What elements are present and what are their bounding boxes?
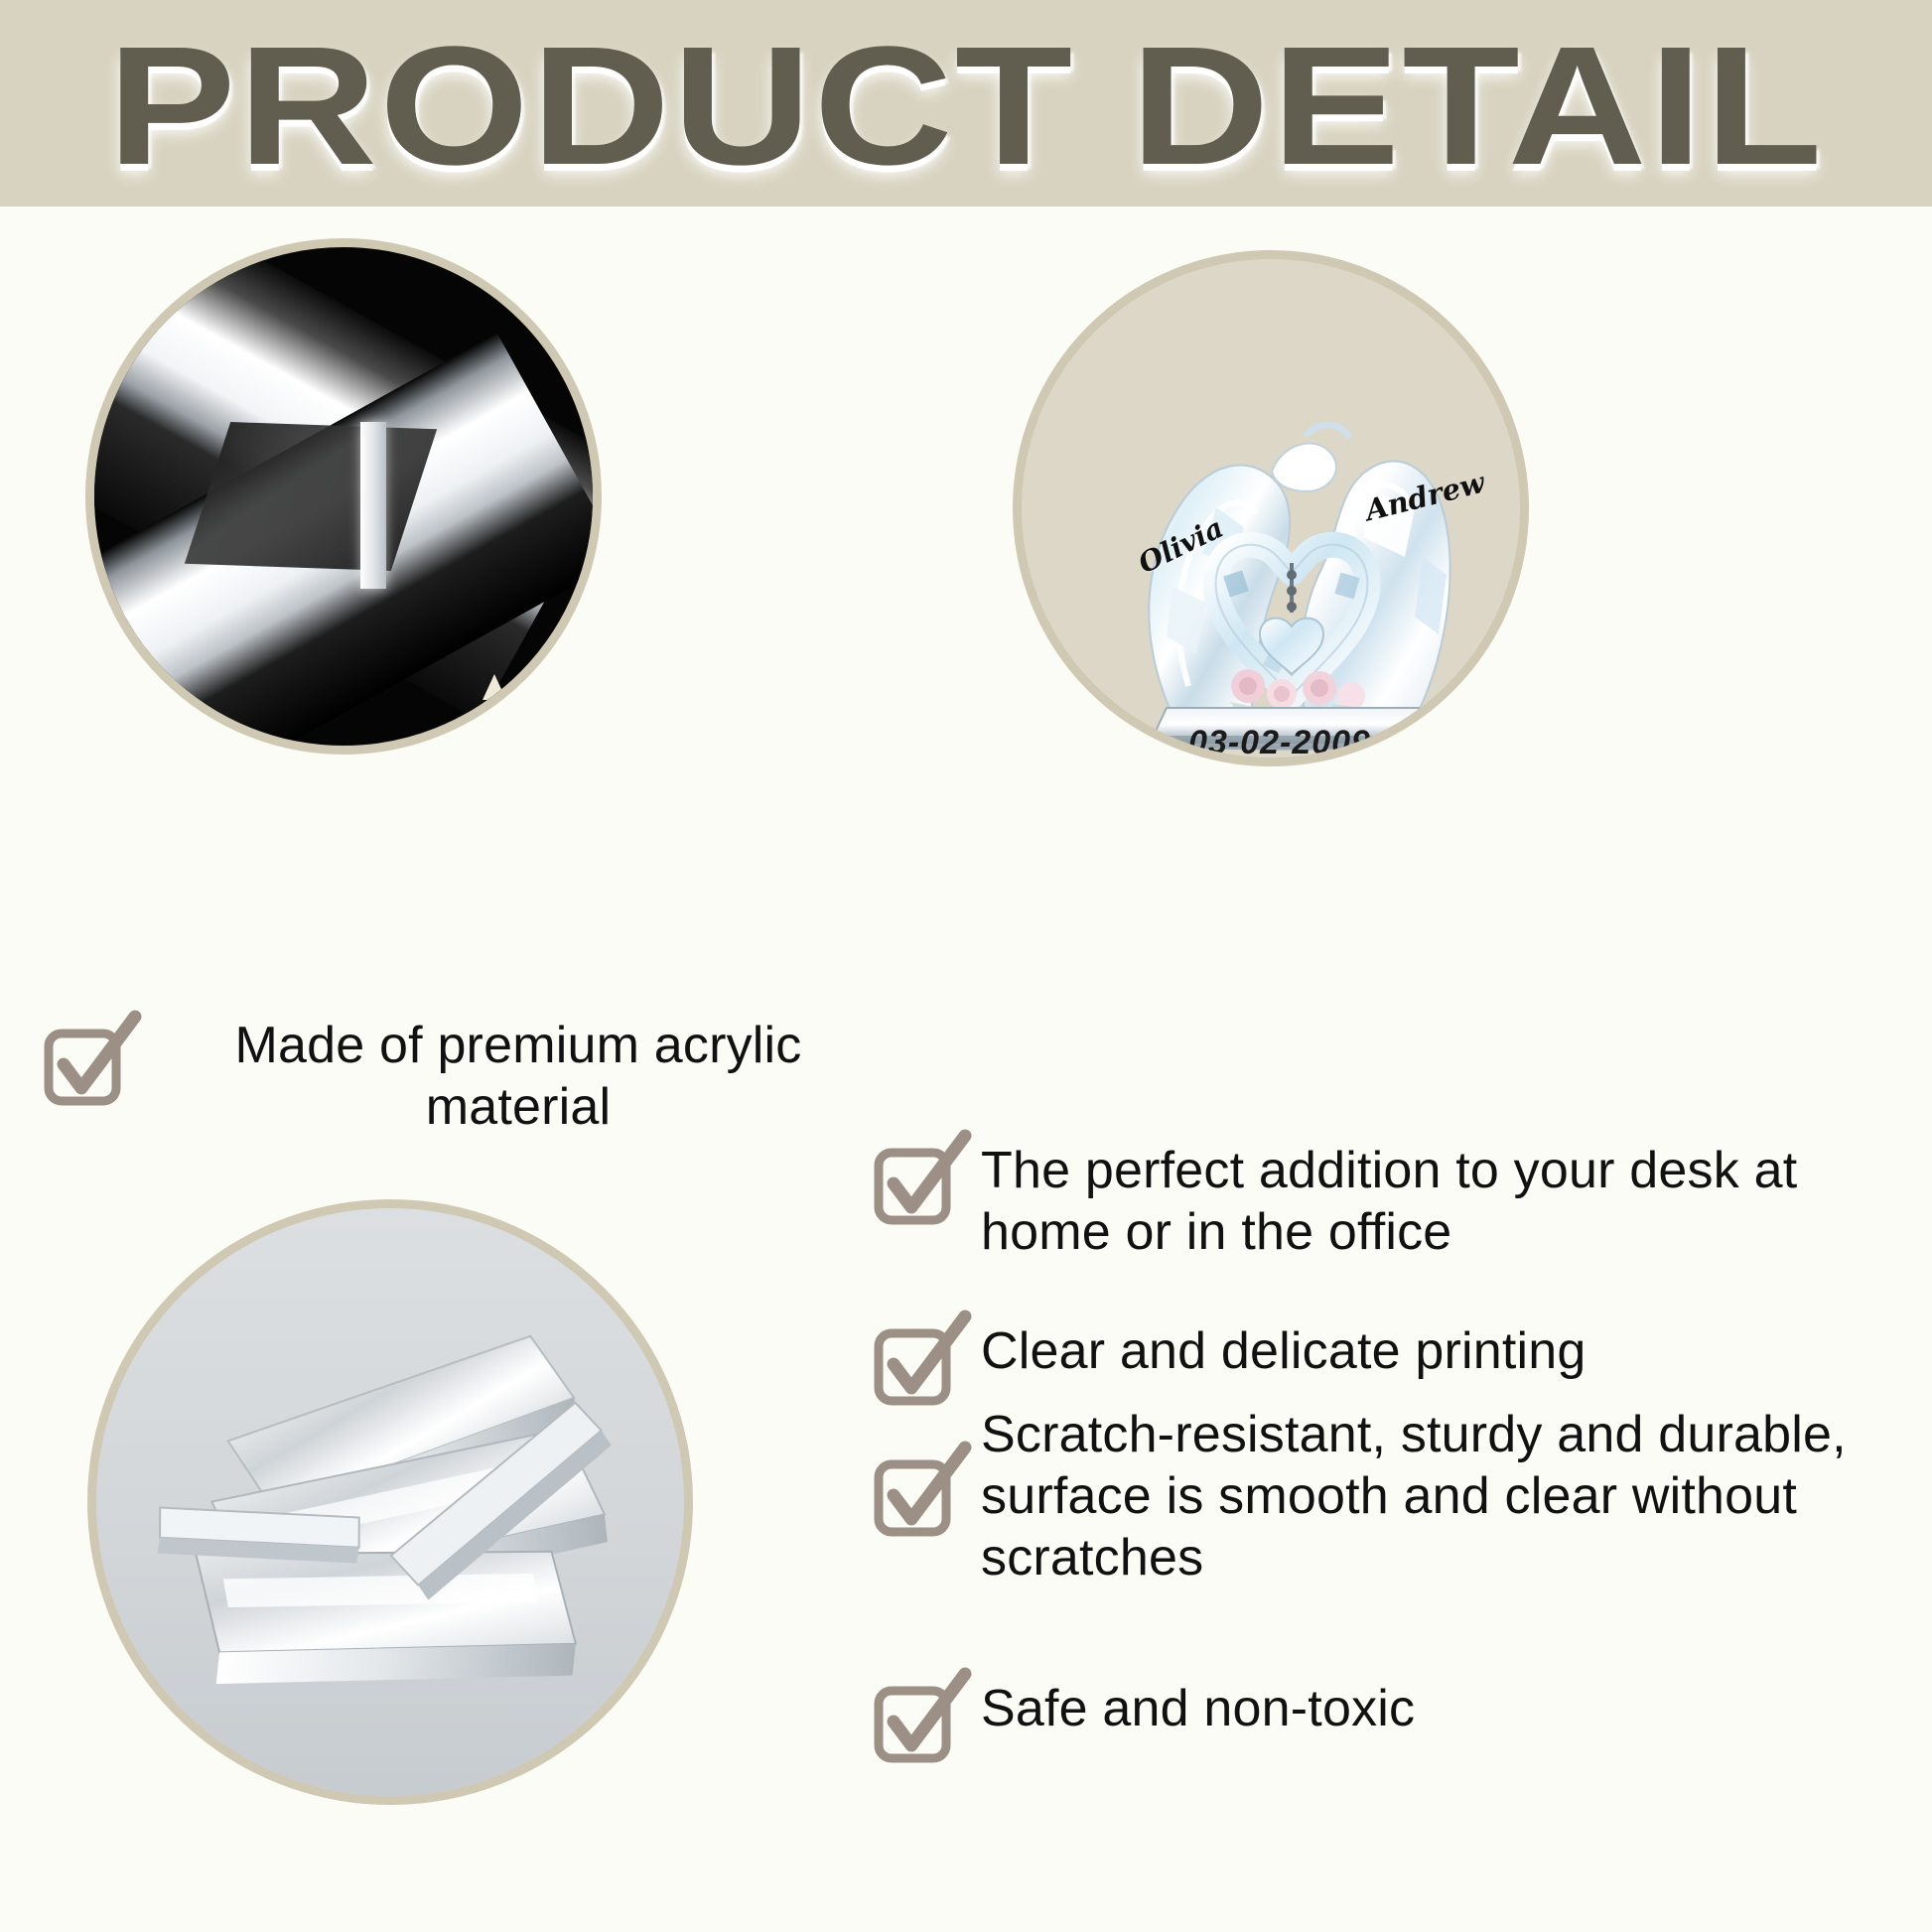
checkbox-checked-icon [874, 1678, 959, 1763]
acrylic-edge-highlight [360, 422, 386, 589]
feature-label: Safe and non-toxic [981, 1678, 1415, 1739]
acrylic-sheets-photo-circle [87, 1199, 693, 1805]
checkbox-checked-icon [874, 1451, 959, 1537]
thickness-value: 0.55 in [515, 746, 602, 755]
thickness-label: Thickness [515, 690, 602, 746]
thickness-photo-circle: Thickness 0.55 in [85, 238, 602, 755]
checkbox-checked-icon [44, 1021, 129, 1106]
feature-scratch-resistant: Scratch-resistant, sturdy and durable, s… [874, 1451, 1906, 1588]
engraved-date: 03-02-2009 [1161, 724, 1399, 762]
feature-safe-non-toxic: Safe and non-toxic [874, 1678, 1906, 1763]
thickness-callout: Thickness 0.55 in [515, 690, 602, 755]
checkbox-checked-icon [874, 1320, 959, 1406]
feature-label: Scratch-resistant, sturdy and durable, s… [981, 1404, 1906, 1588]
crystal-bell-graphic [1022, 259, 1529, 766]
crystal-figurine-image: Olivia Andrew 03-02-2009 [1022, 259, 1520, 758]
product-detail-page: PRODUCT DETAIL Thickness 0.55 in [0, 0, 1932, 1932]
feature-label: Made of premium acrylic material [151, 1015, 886, 1138]
thickness-arrow-icon [482, 674, 507, 755]
feature-premium-acrylic: Made of premium acrylic material [44, 1021, 897, 1138]
acrylic-sheet-stack-graphic [96, 1208, 693, 1805]
figurine-photo-circle: Olivia Andrew 03-02-2009 [1013, 250, 1529, 766]
page-title: PRODUCT DETAIL [0, 22, 1932, 191]
feature-label: Clear and delicate printing [981, 1320, 1587, 1382]
feature-clear-printing: Clear and delicate printing [874, 1320, 1906, 1406]
checkbox-checked-icon [874, 1140, 959, 1225]
feature-label: The perfect addition to your desk at hom… [981, 1140, 1906, 1263]
header-banner: PRODUCT DETAIL [0, 0, 1932, 207]
feature-perfect-desk-addition: The perfect addition to your desk at hom… [874, 1140, 1906, 1263]
